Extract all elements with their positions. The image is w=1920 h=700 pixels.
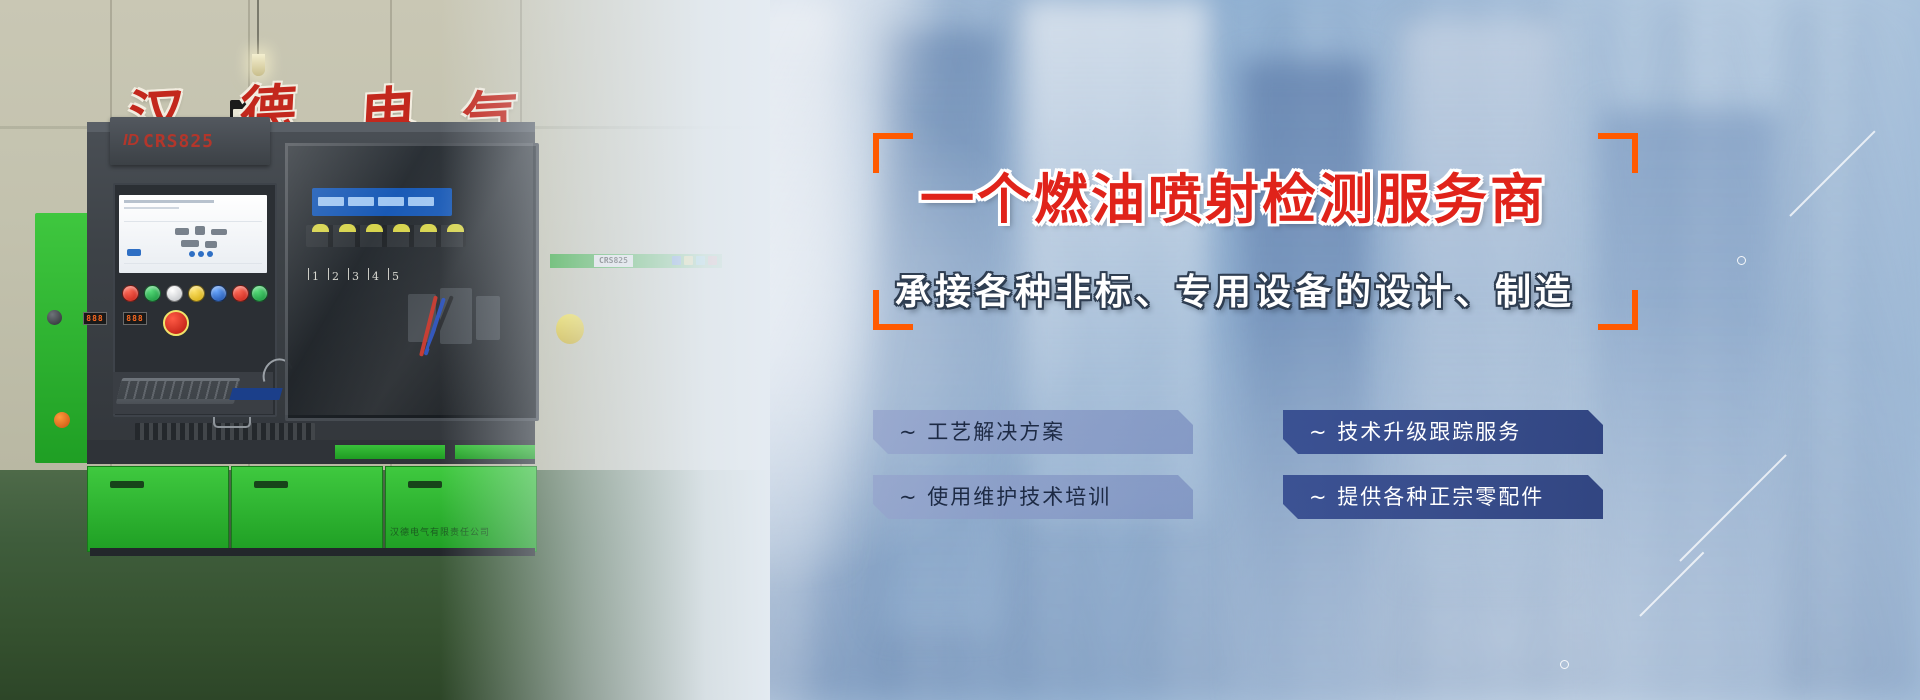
bench-green-inset [335,445,445,459]
lcd-icon [127,249,141,256]
feature-item-process-solution[interactable]: ~ 工艺解决方案 [873,410,1193,454]
push-button-green-2[interactable] [251,285,268,302]
lcd-icon [207,251,213,257]
decor-dot [1560,660,1569,669]
bench-brand-logo: ID [123,132,139,150]
push-button-red-2[interactable] [232,285,249,302]
feature-item-genuine-parts[interactable]: ~ 提供各种正宗零配件 [1283,475,1603,519]
lcd-diagram [181,240,199,247]
lcd-diagram [175,228,189,235]
push-button-yellow[interactable] [188,285,205,302]
lcd-diagram [211,229,227,235]
lcd-diagram [205,241,217,248]
photo-edge-fade [440,0,770,700]
bench-drawer[interactable] [87,466,229,552]
push-button-white[interactable] [166,285,183,302]
emergency-stop-button[interactable] [163,310,189,336]
lcd-title-bar [124,200,214,203]
keyboard[interactable] [116,378,240,404]
selector-knob[interactable] [47,310,62,325]
product-photo: 汉 德 电 气 ID CRS825 [0,0,770,700]
banner-root: 汉 德 电 气 ID CRS825 [0,0,1920,700]
banner-headline: 一个燃油喷射检测服务商 [920,155,1680,234]
feature-item-tech-upgrade[interactable]: ~ 技术升级跟踪服务 [1283,410,1603,454]
bench-model-label: CRS825 [143,131,214,152]
banner-subline: 承接各种非标、专用设备的设计、制造 [895,263,1695,315]
lcd-icon [189,251,195,257]
push-button-red[interactable] [122,285,139,302]
bench-knob [54,412,70,428]
push-button-green[interactable] [144,285,161,302]
digital-readout: 888 [83,312,107,325]
ceiling-lamp [252,54,265,76]
digital-readout: 888 [123,312,147,325]
bench-lcd-screen [119,195,267,273]
bench-drawer[interactable] [231,466,383,552]
button-row [119,285,267,305]
push-button-blue[interactable] [210,285,227,302]
cabinet-handle[interactable] [213,417,251,428]
lamp-wire [257,0,259,56]
decor-dot [1737,256,1746,265]
lcd-diagram [195,226,205,235]
feature-item-maintenance-training[interactable]: ~ 使用维护技术培训 [873,475,1193,519]
lcd-subtitle-bar [124,207,179,209]
lcd-icon [198,251,204,257]
corner-bracket-top-left [873,133,913,173]
